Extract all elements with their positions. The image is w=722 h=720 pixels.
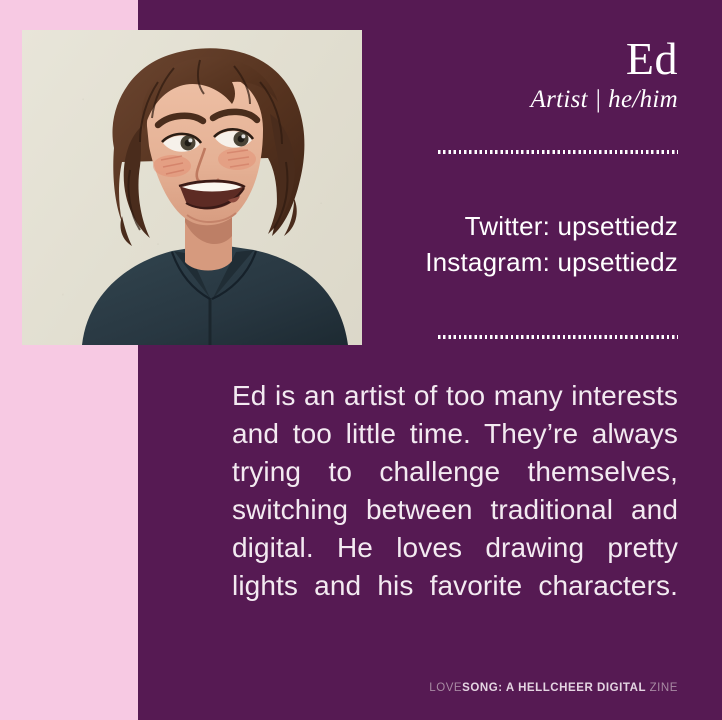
dotted-divider-bottom <box>438 335 678 339</box>
zine-profile-card: Ed Artist | he/him Twitter: upsettiedz I… <box>0 0 722 720</box>
footer-part-love: LOVE <box>429 682 462 694</box>
footer-part-song: SONG: A HELLCHEER DIGITAL <box>462 682 649 694</box>
role-pronouns: Artist | he/him <box>531 86 678 114</box>
footer-part-zine: ZINE <box>650 682 678 694</box>
portrait-illustration <box>22 30 362 345</box>
zine-footer-credit: LOVESONG: A HELLCHEER DIGITAL ZINE <box>429 682 678 694</box>
character-drawing <box>22 30 362 345</box>
page-title: Ed <box>626 36 678 82</box>
dotted-divider-top <box>438 150 678 154</box>
artist-bio-text: Ed is an artist of too many interests an… <box>232 377 678 643</box>
social-handle-instagram[interactable]: Instagram: upsettiedz <box>425 244 678 280</box>
social-handle-twitter[interactable]: Twitter: upsettiedz <box>465 208 678 244</box>
